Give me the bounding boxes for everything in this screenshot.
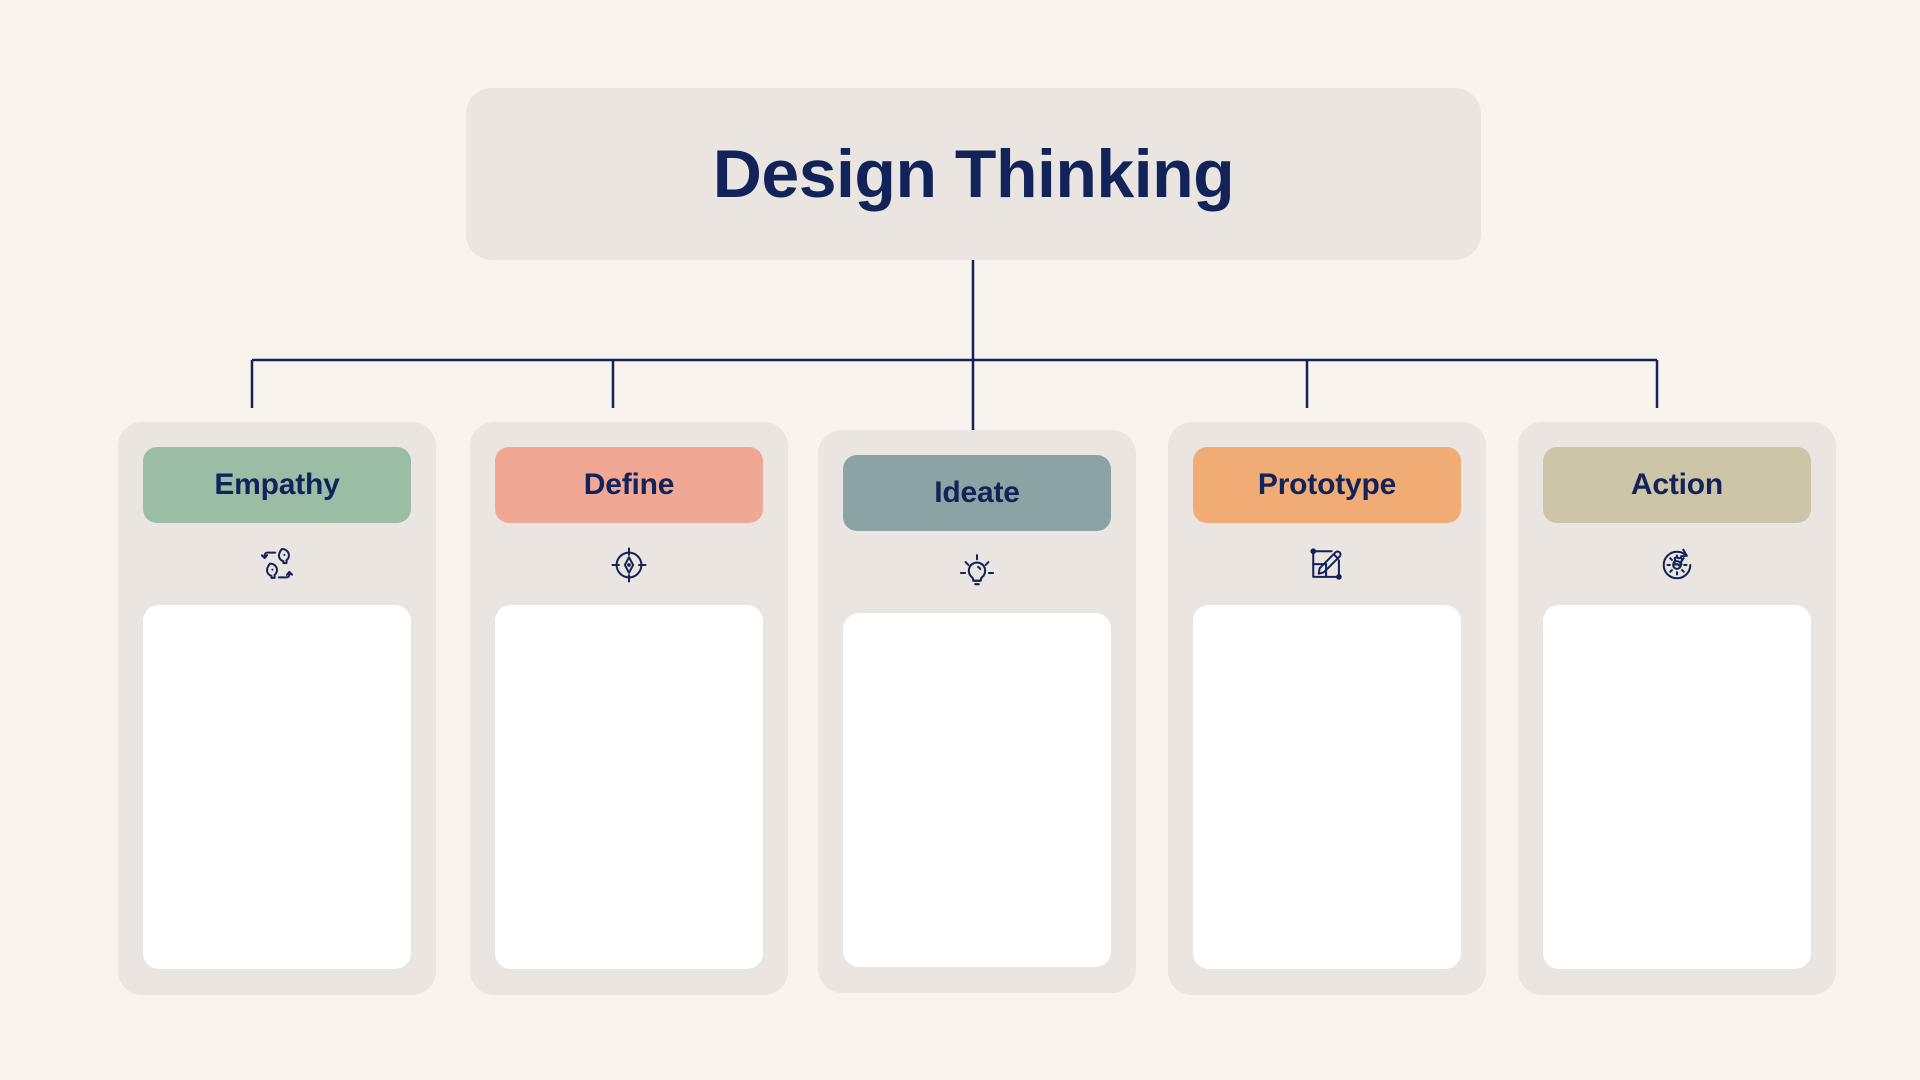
stage-label-define: Define [584,470,675,500]
stage-header-action: Action [1543,447,1811,523]
stage-card-define[interactable]: Define [470,422,788,995]
stage-header-define: Define [495,447,763,523]
stage-header-prototype: Prototype [1193,447,1461,523]
stage-card-empathy[interactable]: Empathy [118,422,436,995]
stage-header-empathy: Empathy [143,447,411,523]
stage-card-ideate[interactable]: Ideate [818,430,1136,993]
stage-label-prototype: Prototype [1258,470,1396,500]
stage-note-empathy[interactable] [143,605,411,969]
stage-header-ideate: Ideate [843,455,1111,531]
stage-note-prototype[interactable] [1193,605,1461,969]
stage-note-ideate[interactable] [843,613,1111,967]
lightbulb-icon [953,549,1001,597]
stage-note-define[interactable] [495,605,763,969]
stage-label-empathy: Empathy [214,470,339,500]
page-title: Design Thinking [713,140,1234,208]
gear-refresh-icon [1653,541,1701,589]
title-card: Design Thinking [466,88,1481,260]
design-thinking-board: Design Thinking Empathy [0,0,1920,1080]
stage-label-ideate: Ideate [934,478,1020,508]
blueprint-pencil-icon [1303,541,1351,589]
stage-card-action[interactable]: Action [1518,422,1836,995]
two-heads-exchange-icon [253,541,301,589]
stage-note-action[interactable] [1543,605,1811,969]
stage-card-prototype[interactable]: Prototype [1168,422,1486,995]
stage-label-action: Action [1631,470,1723,500]
crosshair-target-icon [605,541,653,589]
